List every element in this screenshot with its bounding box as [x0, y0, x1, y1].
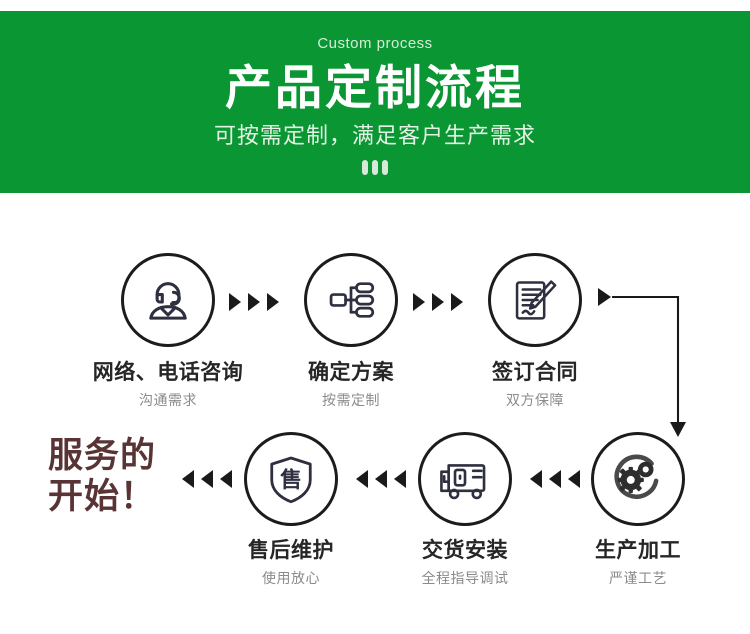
org-chart-icon	[322, 271, 380, 329]
step-sublabel: 使用放心	[211, 570, 371, 586]
flow-step-sign-contract: 签订合同 双方保障	[455, 253, 615, 408]
headset-person-icon	[139, 271, 197, 329]
service-start-line2: 开始！	[48, 477, 156, 518]
flow-step-aftersales: 售 售后维护 使用放心	[211, 432, 371, 586]
page-title: 产品定制流程	[0, 63, 750, 114]
step-icon-circle	[418, 432, 512, 526]
shield-aftersales-icon: 售	[263, 451, 319, 507]
divider-pip	[382, 160, 388, 175]
header-banner: Custom process 产品定制流程 可按需定制，满足客户生产需求	[0, 11, 750, 193]
delivery-truck-icon	[436, 450, 494, 508]
svg-text:售: 售	[280, 467, 302, 493]
arrow-right-icon	[413, 293, 425, 311]
step-label: 生产加工	[558, 539, 718, 563]
step-sublabel: 按需定制	[271, 392, 431, 408]
arrow-left-icon	[182, 470, 194, 488]
process-flow: 网络、电话咨询 沟通需求	[0, 193, 750, 634]
divider-pip	[362, 160, 368, 175]
banner-eyebrow: Custom process	[0, 36, 750, 51]
step-sublabel: 严谨工艺	[558, 570, 718, 586]
service-start-callout: 服务的 开始！	[48, 436, 156, 517]
divider-pip	[372, 160, 378, 175]
step-label: 确定方案	[271, 361, 431, 385]
step-icon-circle: 售	[244, 432, 338, 526]
arrow-right-icon	[432, 293, 444, 311]
step-icon-circle	[121, 253, 215, 347]
step-label: 签订合同	[455, 361, 615, 385]
flow-step-confirm-plan: 确定方案 按需定制	[271, 253, 431, 408]
banner-subtitle: 可按需定制，满足客户生产需求	[0, 124, 750, 148]
step-sublabel: 沟通需求	[88, 392, 248, 408]
arrow-left-icon	[530, 470, 542, 488]
gears-production-icon	[609, 450, 667, 508]
step-sublabel: 全程指导调试	[385, 570, 545, 586]
arrow-right-icon	[229, 293, 241, 311]
step-icon-circle	[591, 432, 685, 526]
connector-contract-to-production	[596, 281, 692, 446]
step-label: 交货安装	[385, 539, 545, 563]
arrow-left-icon	[356, 470, 368, 488]
contract-signing-icon	[507, 272, 563, 328]
flow-step-production: 生产加工 严谨工艺	[558, 432, 718, 586]
step-sublabel: 双方保障	[455, 392, 615, 408]
service-start-line1: 服务的	[48, 436, 156, 477]
custom-process-infographic: Custom process 产品定制流程 可按需定制，满足客户生产需求	[0, 0, 750, 634]
arrow-right-icon	[598, 288, 611, 306]
banner-divider-pips	[0, 160, 750, 175]
step-label: 网络、电话咨询	[88, 361, 248, 385]
flow-step-consultation: 网络、电话咨询 沟通需求	[88, 253, 248, 408]
banner-content: Custom process 产品定制流程 可按需定制，满足客户生产需求	[0, 11, 750, 175]
step-label: 售后维护	[211, 539, 371, 563]
step-icon-circle	[488, 253, 582, 347]
step-icon-circle	[304, 253, 398, 347]
arrow-right-icon	[248, 293, 260, 311]
flow-step-delivery: 交货安装 全程指导调试	[385, 432, 545, 586]
